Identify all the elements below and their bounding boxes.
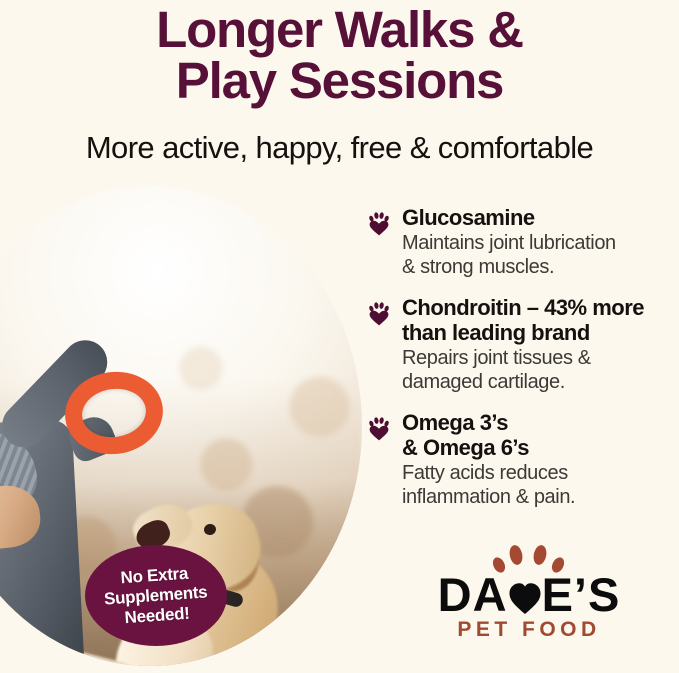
benefit-description-line-2: inflammation & pain. xyxy=(402,486,575,508)
logo-word-after: E’S xyxy=(542,568,621,621)
page-title: Longer Walks & Play Sessions xyxy=(0,4,679,106)
benefit-title: Glucosamine xyxy=(402,205,671,230)
badge-text: No Extra Supplements Needed! xyxy=(102,562,209,629)
benefit-item-omega: Omega 3’s & Omega 6’s Fatty acids reduce… xyxy=(366,410,671,509)
logo-wordmark: DAE’S xyxy=(404,570,654,620)
benefit-description-line-1: Fatty acids reduces xyxy=(402,462,568,484)
paw-heart-icon xyxy=(366,416,392,442)
badge-line-3: Needed! xyxy=(124,603,190,626)
benefit-description-line-2: & strong muscles. xyxy=(402,256,554,278)
benefit-description: Repairs joint tissues & damaged cartilag… xyxy=(402,346,671,394)
promo-image: Longer Walks & Play Sessions More active… xyxy=(0,0,679,673)
benefits-list: Glucosamine Maintains joint lubrication … xyxy=(366,205,671,525)
benefit-description-line-1: Repairs joint tissues & xyxy=(402,347,591,369)
subtitle: More active, happy, free & comfortable xyxy=(0,131,679,165)
logo-tagline: PET FOOD xyxy=(404,618,654,642)
benefit-title-line-2: than leading brand xyxy=(402,320,590,345)
benefit-item-glucosamine: Glucosamine Maintains joint lubrication … xyxy=(366,205,671,279)
no-supplements-badge: No Extra Supplements Needed! xyxy=(85,545,227,646)
benefit-title-line-1: Chondroitin – 43% more xyxy=(402,295,644,320)
paw-heart-icon xyxy=(366,211,392,237)
benefit-title-line-2: & Omega 6’s xyxy=(402,435,529,460)
benefit-description-line-1: Maintains joint lubrication xyxy=(402,232,616,254)
brand-logo: DAE’S PET FOOD xyxy=(404,540,654,650)
benefit-title: Chondroitin – 43% more than leading bran… xyxy=(402,295,671,345)
headline-line-1: Longer Walks & xyxy=(156,1,523,58)
benefit-description: Fatty acids reduces inflammation & pain. xyxy=(402,461,671,509)
benefit-item-chondroitin: Chondroitin – 43% more than leading bran… xyxy=(366,295,671,394)
benefit-description: Maintains joint lubrication & strong mus… xyxy=(402,231,671,279)
benefit-title: Omega 3’s & Omega 6’s xyxy=(402,410,671,460)
benefit-title-line-1: Omega 3’s xyxy=(402,410,508,435)
benefit-description-line-2: damaged cartilage. xyxy=(402,371,565,393)
badge-line-2: Supplements xyxy=(104,582,209,608)
logo-word-before: DA xyxy=(438,568,508,621)
paw-heart-icon xyxy=(366,301,392,327)
heart-icon xyxy=(508,574,542,608)
headline-line-2: Play Sessions xyxy=(0,55,679,106)
